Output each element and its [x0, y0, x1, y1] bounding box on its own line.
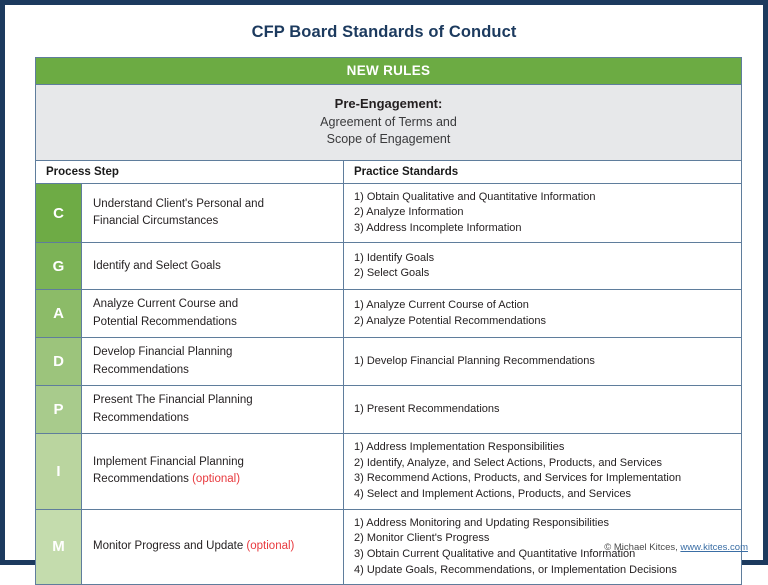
step-letter-badge: I	[36, 434, 81, 508]
column-header-practice-standards: Practice Standards	[344, 161, 741, 183]
process-step-cell: Implement Financial PlanningRecommendati…	[81, 434, 344, 508]
practice-standard-item: 2) Analyze Information	[354, 205, 735, 221]
practice-standards-cell: 1) Address Implementation Responsibiliti…	[344, 434, 741, 508]
pre-engagement-line-2: Scope of Engagement	[36, 131, 741, 148]
practice-standard-item: 1) Address Implementation Responsibiliti…	[354, 440, 735, 456]
process-step-text: Identify and Select Goals	[93, 258, 221, 275]
table-row: CUnderstand Client's Personal andFinanci…	[36, 184, 741, 244]
practice-standards-cell: 1) Present Recommendations	[344, 386, 741, 433]
table-header-row: Process Step Practice Standards	[36, 161, 741, 184]
process-step-text: Develop Financial PlanningRecommendation…	[93, 344, 232, 379]
practice-standards-cell: 1) Develop Financial Planning Recommenda…	[344, 338, 741, 385]
practice-standard-item: 1) Analyze Current Course of Action	[354, 298, 735, 314]
page-title: CFP Board Standards of Conduct	[6, 23, 762, 42]
process-step-text: Understand Client's Personal andFinancia…	[93, 196, 264, 231]
practice-standard-item: 1) Develop Financial Planning Recommenda…	[354, 354, 735, 370]
practice-standard-item: 3) Recommend Actions, Products, and Serv…	[354, 471, 735, 487]
pre-engagement-panel: Pre-Engagement: Agreement of Terms and S…	[36, 85, 741, 161]
poster-frame: CFP Board Standards of Conduct NEW RULES…	[0, 0, 768, 565]
pre-engagement-line-1: Agreement of Terms and	[36, 114, 741, 131]
process-step-text: Present The Financial PlanningRecommenda…	[93, 392, 253, 427]
practice-standard-item: 2) Select Goals	[354, 266, 735, 282]
step-letter-badge: G	[36, 243, 81, 289]
process-step-line-2: Recommendations	[93, 473, 189, 485]
copyright-text: © Michael Kitces,	[604, 542, 678, 553]
practice-standard-item: 1) Address Monitoring and Updating Respo…	[354, 516, 735, 532]
footer-attribution: © Michael Kitces, www.kitces.com	[604, 542, 748, 553]
practice-standards-cell: 1) Identify Goals2) Select Goals	[344, 243, 741, 289]
practice-standards-cell: 1) Obtain Qualitative and Quantitative I…	[344, 184, 741, 243]
table-row: GIdentify and Select Goals1) Identify Go…	[36, 243, 741, 290]
table-row: IImplement Financial PlanningRecommendat…	[36, 434, 741, 509]
pre-engagement-heading: Pre-Engagement:	[36, 95, 741, 114]
process-step-line-1: Implement Financial Planning	[93, 456, 244, 468]
practice-standard-item: 2) Identify, Analyze, and Select Actions…	[354, 456, 735, 472]
process-step-line-2: Recommendations	[93, 364, 189, 376]
process-step-text: Implement Financial PlanningRecommendati…	[93, 454, 244, 489]
process-step-line-1: Identify and Select Goals	[93, 260, 221, 272]
practice-standard-item: 4) Select and Implement Actions, Product…	[354, 487, 735, 503]
new-rules-banner: NEW RULES	[36, 58, 741, 85]
process-step-text: Monitor Progress and Update (optional)	[93, 538, 294, 555]
table-row: PPresent The Financial PlanningRecommend…	[36, 386, 741, 434]
process-step-line-1: Monitor Progress and Update	[93, 540, 243, 552]
optional-tag: (optional)	[192, 473, 240, 485]
step-letter-badge: P	[36, 386, 81, 433]
kitces-website-link[interactable]: www.kitces.com	[680, 542, 748, 553]
step-letter-badge: A	[36, 290, 81, 337]
table-row: AAnalyze Current Course andPotential Rec…	[36, 290, 741, 338]
process-step-cell: Monitor Progress and Update (optional)	[81, 510, 344, 584]
standards-table: NEW RULES Pre-Engagement: Agreement of T…	[35, 57, 742, 585]
process-step-cell: Present The Financial PlanningRecommenda…	[81, 386, 344, 433]
column-header-process-step: Process Step	[36, 161, 344, 183]
step-letter-badge: D	[36, 338, 81, 385]
practice-standard-item: 2) Analyze Potential Recommendations	[354, 314, 735, 330]
process-step-line-2: Potential Recommendations	[93, 316, 237, 328]
process-step-text: Analyze Current Course andPotential Reco…	[93, 296, 238, 331]
process-step-cell: Analyze Current Course andPotential Reco…	[81, 290, 344, 337]
table-body: CUnderstand Client's Personal andFinanci…	[36, 184, 741, 585]
practice-standard-item: 3) Address Incomplete Information	[354, 221, 735, 237]
process-step-cell: Identify and Select Goals	[81, 243, 344, 289]
process-step-line-1: Understand Client's Personal and	[93, 198, 264, 210]
poster-inner: CFP Board Standards of Conduct NEW RULES…	[5, 5, 763, 560]
optional-tag: (optional)	[246, 540, 294, 552]
practice-standard-item: 1) Present Recommendations	[354, 402, 735, 418]
process-step-line-1: Present The Financial Planning	[93, 394, 253, 406]
process-step-cell: Develop Financial PlanningRecommendation…	[81, 338, 344, 385]
process-step-line-2: Financial Circumstances	[93, 215, 218, 227]
process-step-line-1: Develop Financial Planning	[93, 346, 232, 358]
practice-standard-item: 1) Obtain Qualitative and Quantitative I…	[354, 190, 735, 206]
step-letter-badge: M	[36, 510, 81, 584]
process-step-line-2: Recommendations	[93, 412, 189, 424]
table-row: DDevelop Financial PlanningRecommendatio…	[36, 338, 741, 386]
step-letter-badge: C	[36, 184, 81, 243]
process-step-line-1: Analyze Current Course and	[93, 298, 238, 310]
practice-standard-item: 1) Identify Goals	[354, 251, 735, 267]
practice-standards-cell: 1) Analyze Current Course of Action2) An…	[344, 290, 741, 337]
process-step-cell: Understand Client's Personal andFinancia…	[81, 184, 344, 243]
